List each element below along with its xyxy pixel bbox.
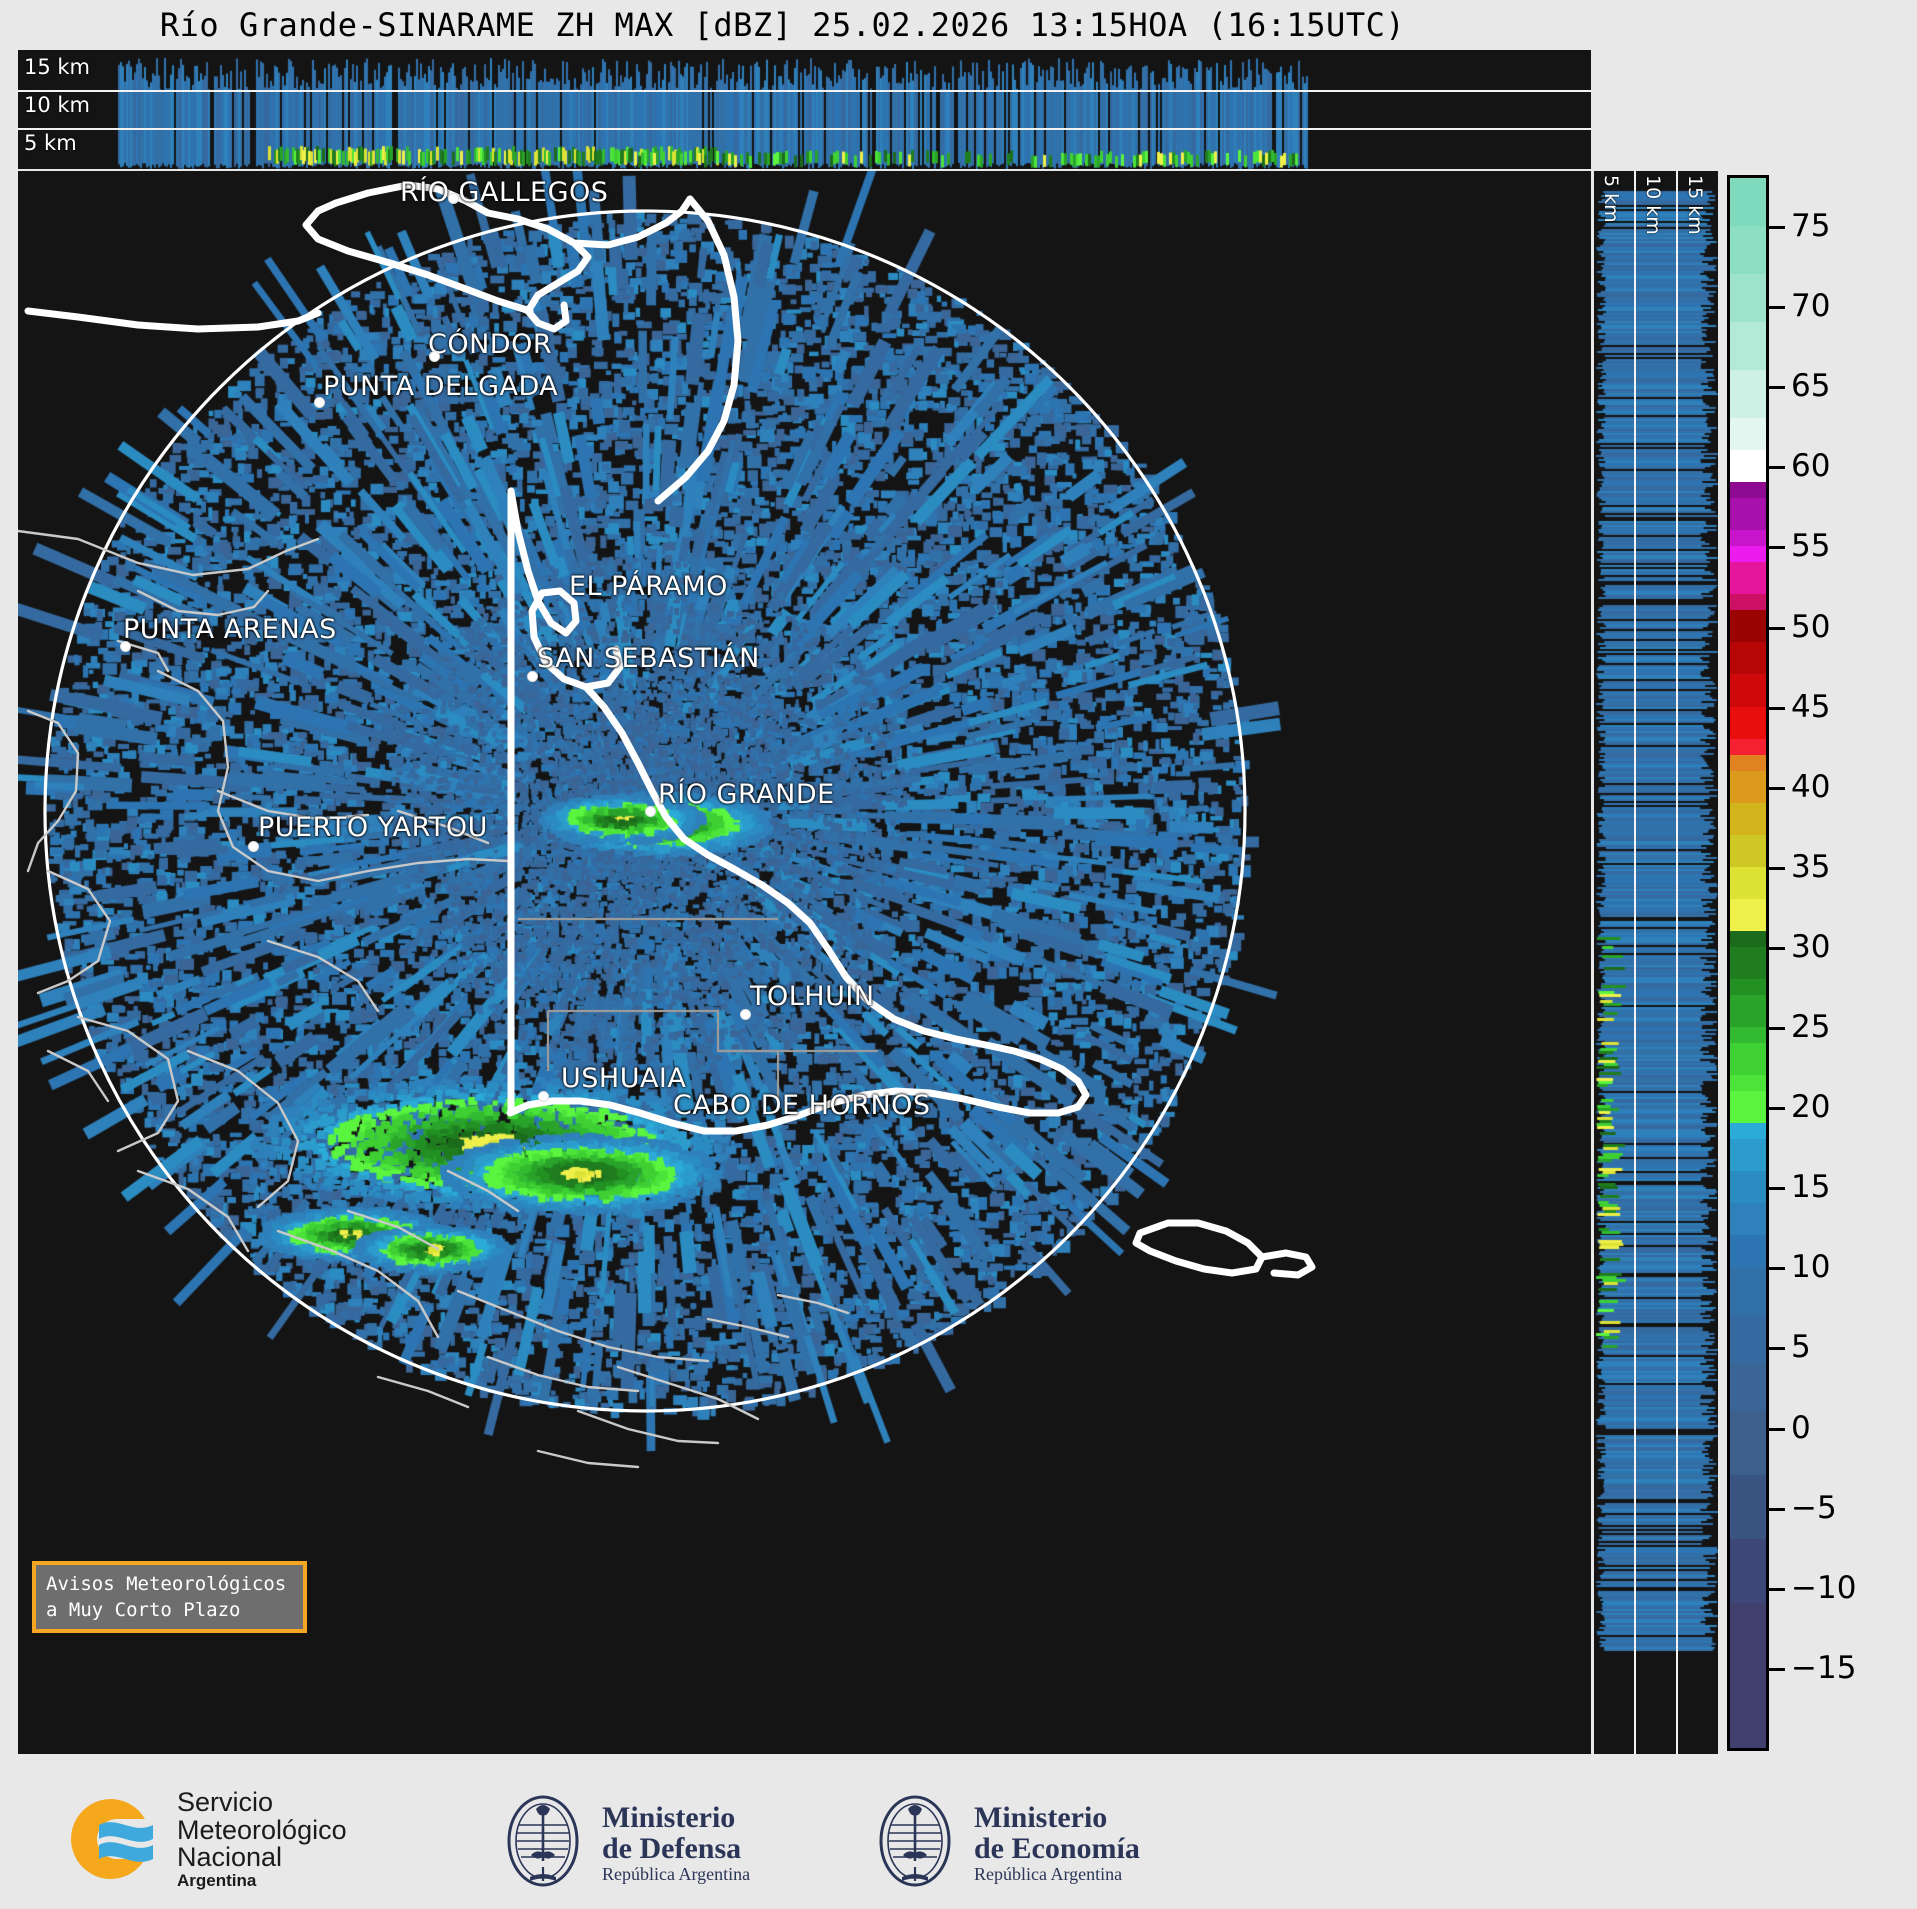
colorbar-tick-label: 50: [1791, 609, 1830, 645]
city-marker-punta-delgada: [314, 397, 325, 408]
colorbar-band: [1730, 562, 1766, 594]
right-xs-label-5km: 5 km: [1600, 175, 1622, 223]
right-xs-gridline-a: [1634, 171, 1636, 1754]
colorbar-band: [1730, 178, 1766, 226]
colorbar-band: [1730, 226, 1766, 274]
top-xs-gridline-10km: [18, 128, 1591, 130]
colorbar-tick-label: −5: [1791, 1490, 1837, 1526]
colorbar-band: [1730, 530, 1766, 546]
colorbar-band: [1730, 1603, 1766, 1683]
colorbar-band: [1730, 755, 1766, 771]
colorbar-tick: [1769, 1508, 1785, 1511]
smn-emblem-icon: [55, 1793, 165, 1885]
colorbar-band: [1730, 947, 1766, 979]
colorbar-band: [1730, 1043, 1766, 1075]
colorbar-tick: [1769, 1187, 1785, 1190]
top-cross-section-echoes: [18, 50, 1591, 169]
defensa-line-1: Ministerio: [602, 1803, 750, 1834]
colorbar-tick: [1769, 1668, 1785, 1671]
colorbar-band: [1730, 1235, 1766, 1267]
colorbar-band: [1730, 674, 1766, 706]
colorbar-tick-label: 5: [1791, 1329, 1811, 1365]
logo-ministerio-defensa: Ministerio de Defensa República Argentin…: [500, 1793, 750, 1893]
city-marker-ushuaia: [538, 1091, 549, 1102]
economia-line-3: República Argentina: [974, 1865, 1140, 1884]
colorbar-tick: [1769, 707, 1785, 710]
colorbar-band: [1730, 899, 1766, 931]
right-cross-section-echoes: [1594, 171, 1718, 1754]
colorbar-band: [1730, 610, 1766, 642]
geography-overlay: [18, 171, 1591, 1754]
reflectivity-colorbar: 757065605550454035302520151050−5−10−15: [1727, 175, 1769, 1751]
colorbar-band: [1730, 1075, 1766, 1091]
colorbar-band: [1730, 370, 1766, 418]
logo-smn: Servicio Meteorológico Nacional Argentin…: [55, 1789, 347, 1889]
top-xs-gridline-15km: [18, 90, 1591, 92]
colorbar-tick-label: 45: [1791, 689, 1830, 725]
warning-line-1: Avisos Meteorológicos: [46, 1572, 293, 1598]
right-xs-gridline-b: [1676, 171, 1678, 1754]
colorbar-tick: [1769, 1588, 1785, 1591]
colorbar-tick: [1769, 306, 1785, 309]
right-xs-label-15km: 15 km: [1684, 175, 1706, 235]
argentina-coat-of-arms-icon-2: [872, 1793, 958, 1893]
colorbar-band: [1730, 546, 1766, 562]
right-xs-label-10km: 10 km: [1642, 175, 1664, 235]
colorbar-tick-label: 60: [1791, 448, 1830, 484]
colorbar-band: [1730, 979, 1766, 995]
colorbar-tick-label: 40: [1791, 769, 1830, 805]
colorbar-gradient: [1727, 175, 1769, 1751]
defensa-line-3: República Argentina: [602, 1865, 750, 1884]
colorbar-band: [1730, 482, 1766, 498]
colorbar-tick-label: 30: [1791, 929, 1830, 965]
radar-product-page: Río Grande-SINARAME ZH MAX [dBZ] 25.02.2…: [0, 0, 1917, 1909]
colorbar-tick: [1769, 627, 1785, 630]
colorbar-band: [1730, 995, 1766, 1027]
colorbar-band: [1730, 739, 1766, 755]
colorbar-band: [1730, 1475, 1766, 1539]
colorbar-tick-label: 70: [1791, 288, 1830, 324]
colorbar-band: [1730, 1027, 1766, 1043]
top-xs-label-5km: 5 km: [24, 131, 77, 155]
city-marker-puerto-yartou: [248, 841, 259, 852]
colorbar-tick-label: 65: [1791, 368, 1830, 404]
colorbar-band: [1730, 1267, 1766, 1315]
right-cross-section-panel: 5 km 10 km 15 km: [1594, 171, 1718, 1754]
city-marker-r-o-grande: [645, 806, 656, 817]
colorbar-tick-label: 0: [1791, 1410, 1811, 1446]
primary-coastline: [28, 185, 1312, 1275]
colorbar-band: [1730, 1171, 1766, 1203]
colorbar-band: [1730, 322, 1766, 370]
colorbar-tick: [1769, 1428, 1785, 1431]
argentina-coat-of-arms-icon: [500, 1793, 586, 1893]
secondary-coastline: [18, 531, 848, 1467]
colorbar-band: [1730, 1123, 1766, 1139]
page-title: Río Grande-SINARAME ZH MAX [dBZ] 25.02.2…: [0, 6, 1565, 46]
top-xs-label-10km: 10 km: [24, 93, 90, 117]
city-marker-c-ndor: [429, 351, 440, 362]
colorbar-tick-label: 35: [1791, 849, 1830, 885]
smn-line-2: Meteorológico: [177, 1817, 347, 1845]
city-marker-punta-arenas: [120, 641, 131, 652]
colorbar-band: [1730, 1363, 1766, 1411]
smn-line-3: Nacional: [177, 1844, 347, 1872]
smn-line-4: Argentina: [177, 1872, 347, 1889]
colorbar-band: [1730, 1411, 1766, 1475]
colorbar-tick: [1769, 226, 1785, 229]
colorbar-band: [1730, 594, 1766, 610]
colorbar-band: [1730, 803, 1766, 835]
colorbar-band: [1730, 1539, 1766, 1603]
colorbar-band: [1730, 1684, 1766, 1748]
colorbar-tick-label: 15: [1791, 1169, 1830, 1205]
colorbar-tick: [1769, 1027, 1785, 1030]
city-marker-r-o-gallegos: [448, 193, 459, 204]
colorbar-band: [1730, 1203, 1766, 1235]
footer-logos: Servicio Meteorológico Nacional Argentin…: [0, 1775, 1917, 1909]
top-cross-section-panel: 15 km 10 km 5 km: [18, 50, 1591, 169]
nowcast-warning-box[interactable]: Avisos Meteorológicos a Muy Corto Plazo: [32, 1561, 307, 1633]
colorbar-tick-label: 25: [1791, 1009, 1830, 1045]
colorbar-band: [1730, 498, 1766, 530]
colorbar-band: [1730, 1139, 1766, 1171]
colorbar-tick: [1769, 867, 1785, 870]
colorbar-tick-label: 20: [1791, 1089, 1830, 1125]
smn-line-1: Servicio: [177, 1789, 347, 1817]
colorbar-tick: [1769, 546, 1785, 549]
colorbar-tick: [1769, 787, 1785, 790]
colorbar-band: [1730, 931, 1766, 947]
colorbar-tick-label: 10: [1791, 1249, 1830, 1285]
colorbar-tick: [1769, 386, 1785, 389]
colorbar-band: [1730, 1091, 1766, 1123]
colorbar-tick: [1769, 1347, 1785, 1350]
radar-ppi-map[interactable]: RÍO GALLEGOSCÓNDORPUNTA DELGADAPUNTA ARE…: [18, 171, 1591, 1754]
colorbar-band: [1730, 274, 1766, 322]
top-xs-label-15km: 15 km: [24, 55, 90, 79]
colorbar-band: [1730, 418, 1766, 450]
warning-line-2: a Muy Corto Plazo: [46, 1598, 293, 1624]
colorbar-tick: [1769, 1267, 1785, 1270]
colorbar-band: [1730, 771, 1766, 803]
colorbar-tick-label: −10: [1791, 1570, 1856, 1606]
colorbar-band: [1730, 450, 1766, 482]
colorbar-band: [1730, 642, 1766, 674]
defensa-line-2: de Defensa: [602, 1834, 750, 1865]
colorbar-tick: [1769, 947, 1785, 950]
economia-line-2: de Economía: [974, 1834, 1140, 1865]
colorbar-band: [1730, 867, 1766, 899]
city-marker-tolhuin: [740, 1009, 751, 1020]
colorbar-band: [1730, 835, 1766, 867]
colorbar-tick-label: −15: [1791, 1650, 1856, 1686]
colorbar-tick: [1769, 466, 1785, 469]
colorbar-band: [1730, 1315, 1766, 1363]
city-marker-san-sebasti-n: [527, 671, 538, 682]
colorbar-band: [1730, 707, 1766, 739]
logo-ministerio-economia: Ministerio de Economía República Argenti…: [872, 1793, 1140, 1893]
colorbar-tick-label: 55: [1791, 528, 1830, 564]
colorbar-tick-label: 75: [1791, 208, 1830, 244]
colorbar-tick: [1769, 1107, 1785, 1110]
economia-line-1: Ministerio: [974, 1803, 1140, 1834]
